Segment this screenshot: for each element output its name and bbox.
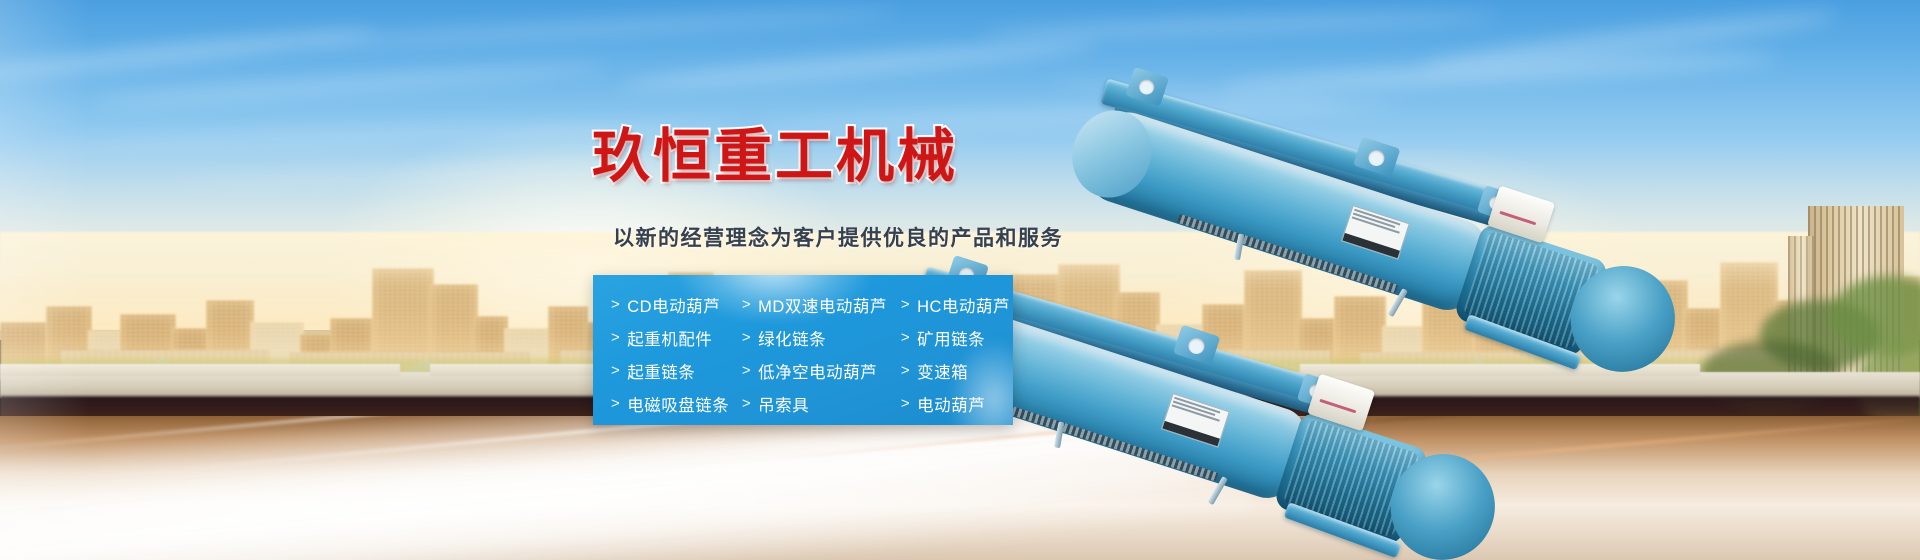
product-link[interactable]: > 电动葫芦 <box>901 392 1013 416</box>
product-link-label: MD双速电动葫芦 <box>758 293 887 317</box>
product-link-label: 矿用链条 <box>917 326 985 350</box>
product-link[interactable]: > CD电动葫芦 <box>611 293 742 317</box>
product-link-label: 变速箱 <box>917 359 968 383</box>
chevron-right-icon: > <box>742 362 751 379</box>
chevron-right-icon: > <box>742 329 751 346</box>
product-link[interactable]: > 变速箱 <box>901 359 1013 383</box>
product-link-label: 起重机配件 <box>627 326 712 350</box>
product-link[interactable]: > 电磁吸盘链条 <box>611 392 742 416</box>
product-link[interactable]: > 起重机配件 <box>611 326 742 350</box>
product-links-panel: > CD电动葫芦 > MD双速电动葫芦 > HC电动葫芦 > 起重机配件 <box>593 275 1013 425</box>
product-link[interactable]: > 起重链条 <box>611 359 742 383</box>
chevron-right-icon: > <box>901 362 910 379</box>
chevron-right-icon: > <box>611 296 620 313</box>
chevron-right-icon: > <box>901 329 910 346</box>
product-link[interactable]: > HC电动葫芦 <box>901 293 1013 317</box>
product-links-row: > CD电动葫芦 > MD双速电动葫芦 > HC电动葫芦 <box>611 288 1013 321</box>
page-subtitle: 以新的经营理念为客户提供优良的产品和服务 <box>613 222 1063 252</box>
cloud-wisp <box>980 9 1500 41</box>
product-links-row: > 起重机配件 > 绿化链条 > 矿用链条 <box>611 321 1013 354</box>
cloud-wisp <box>90 60 610 109</box>
chevron-right-icon: > <box>611 329 620 346</box>
chevron-right-icon: > <box>742 296 751 313</box>
product-link-label: CD电动葫芦 <box>627 293 720 317</box>
product-links-list: > CD电动葫芦 > MD双速电动葫芦 > HC电动葫芦 > 起重机配件 <box>593 275 1013 420</box>
chevron-right-icon: > <box>901 395 910 412</box>
product-links-row: > 电磁吸盘链条 > 吊索具 > 电动葫芦 <box>611 387 1013 420</box>
product-link[interactable]: > MD双速电动葫芦 <box>742 293 901 317</box>
chevron-right-icon: > <box>901 296 910 313</box>
cloud-wisp <box>620 35 1100 95</box>
product-link-label: 起重链条 <box>627 359 695 383</box>
product-link[interactable]: > 矿用链条 <box>901 326 1013 350</box>
product-link-label: HC电动葫芦 <box>917 293 1010 317</box>
page-title: 玖恒重工机械 <box>592 128 958 186</box>
product-link-label: 低净空电动葫芦 <box>758 359 877 383</box>
chevron-right-icon: > <box>611 362 620 379</box>
product-link[interactable]: > 绿化链条 <box>742 326 901 350</box>
product-link-label: 电动葫芦 <box>917 392 985 416</box>
cloud-wisp <box>300 6 900 49</box>
product-links-row: > 起重链条 > 低净空电动葫芦 > 变速箱 <box>611 354 1013 387</box>
product-link-label: 吊索具 <box>758 392 809 416</box>
chevron-right-icon: > <box>611 395 620 412</box>
cloud-wisp <box>0 24 380 84</box>
product-link-label: 绿化链条 <box>758 326 826 350</box>
chevron-right-icon: > <box>742 395 751 412</box>
banner-stage: 玖恒重工机械 以新的经营理念为客户提供优良的产品和服务 > CD电动葫芦 > M… <box>0 0 1920 560</box>
product-link[interactable]: > 吊索具 <box>742 392 901 416</box>
product-link[interactable]: > 低净空电动葫芦 <box>742 359 901 383</box>
product-link-label: 电磁吸盘链条 <box>627 392 729 416</box>
motion-blur-road <box>0 416 1920 560</box>
